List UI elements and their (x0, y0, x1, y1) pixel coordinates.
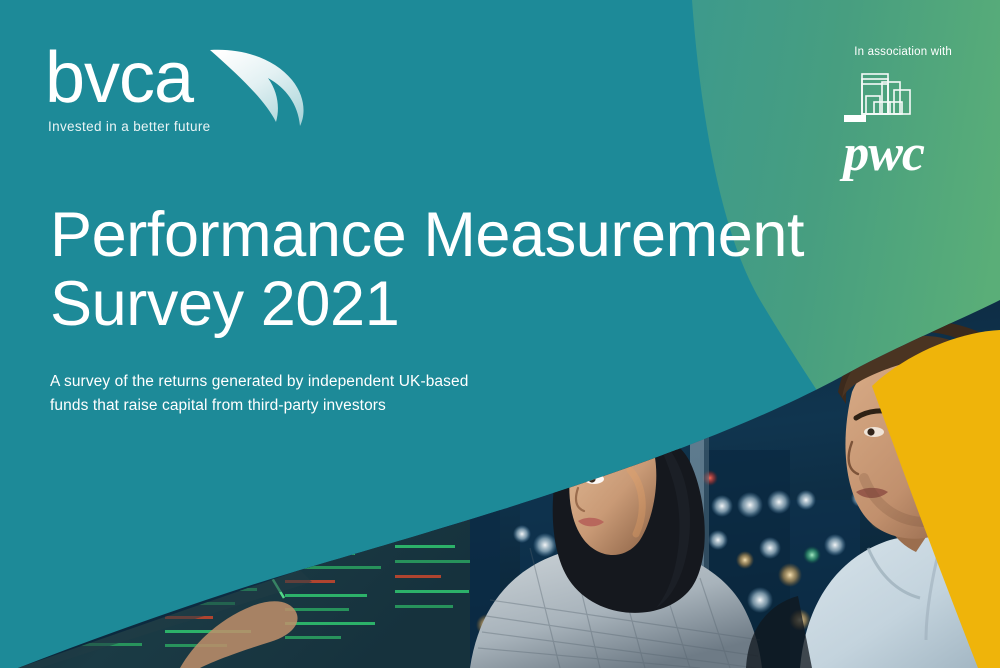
cover-title: Performance Measurement Survey 2021 (50, 202, 770, 338)
pwc-partner-block: In association with pwc (782, 46, 962, 132)
report-cover: bvca Invested in a better future In asso… (0, 0, 1000, 668)
title-line-2: Survey 2021 (50, 271, 770, 338)
cover-subtitle: A survey of the returns generated by ind… (50, 370, 570, 417)
pwc-wordmark: pwc (843, 128, 924, 180)
in-association-with-label: In association with (782, 46, 962, 58)
title-line-1: Performance Measurement (50, 202, 770, 269)
bvca-wordmark: bvca (45, 42, 193, 114)
bvca-swoosh-icon (208, 44, 308, 129)
bvca-tagline: Invested in a better future (48, 119, 211, 134)
pwc-building-mark-icon (844, 70, 924, 126)
subtitle-line-2: funds that raise capital from third-part… (50, 394, 570, 418)
subtitle-line-1: A survey of the returns generated by ind… (50, 370, 570, 394)
bvca-logo: bvca Invested in a better future (45, 42, 305, 142)
